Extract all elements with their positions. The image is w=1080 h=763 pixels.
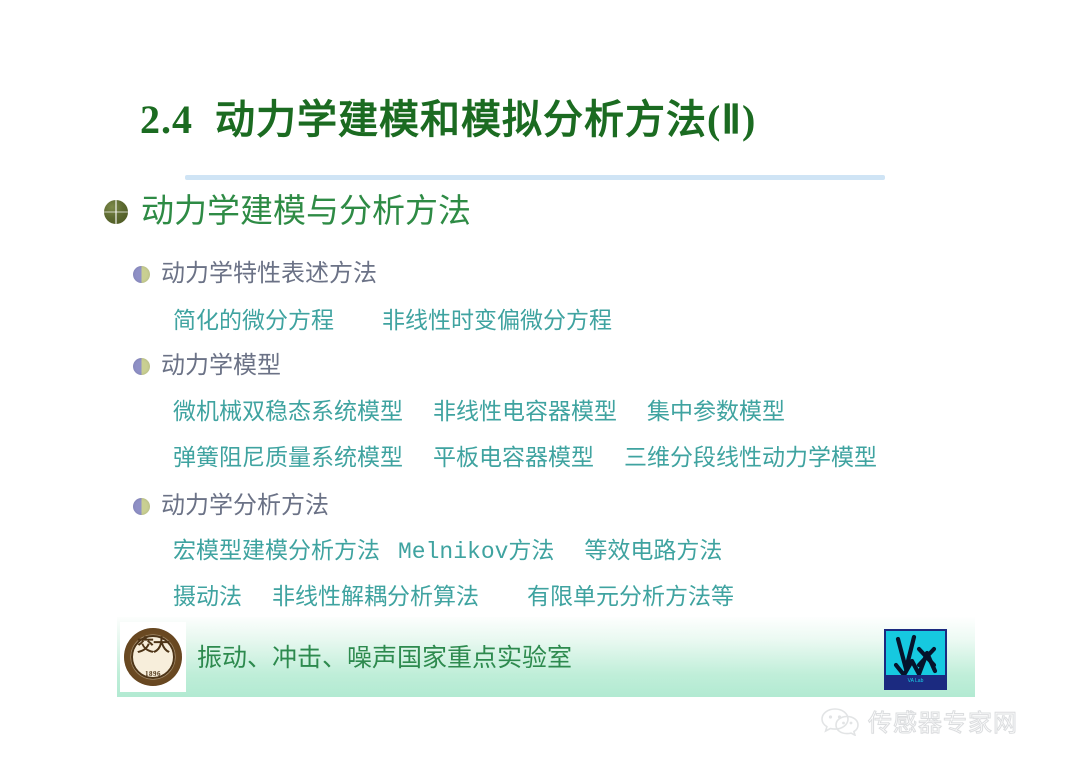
term: 平板电容器模型 — [433, 445, 594, 470]
slide-canvas: 2.4动力学建模和模拟分析方法(Ⅱ) 动力学建模与分析方法 动力学特性表述方法 … — [0, 0, 1080, 763]
term: 非线性解耦分析算法 — [272, 584, 479, 609]
university-seal-icon: 交大 1896 — [124, 628, 182, 686]
footer-lab-name: 振动、冲击、噪声国家重点实验室 — [197, 645, 572, 673]
section-heading-1: 动力学特性表述方法 — [133, 261, 377, 287]
term: 摄动法 — [173, 584, 242, 609]
term: 非线性时变偏微分方程 — [382, 308, 612, 333]
watermark-text: 传感器专家网 — [868, 703, 1018, 738]
term-latin: Melnikov — [398, 539, 508, 565]
section-3-line-1: 宏模型建模分析方法Melnikov方法等效电路方法 — [173, 538, 722, 565]
term: 弹簧阻尼质量系统模型 — [173, 445, 403, 470]
section-heading-3: 动力学分析方法 — [133, 493, 329, 519]
watermark: 传感器专家网 — [820, 703, 1018, 738]
title-text: 动力学建模和模拟分析方法(Ⅱ) — [215, 97, 756, 142]
section-heading-label: 动力学分析方法 — [161, 493, 329, 519]
section-2-line-1: 微机械双稳态系统模型非线性电容器模型集中参数模型 — [173, 399, 785, 424]
term: 简化的微分方程 — [173, 308, 334, 333]
seal-glyph-text: 交大 — [124, 637, 182, 654]
section-1-line-1: 简化的微分方程非线性时变偏微分方程 — [173, 308, 612, 333]
section-2-line-2: 弹簧阻尼质量系统模型平板电容器模型三维分段线性动力学模型 — [173, 445, 877, 470]
level1-label: 动力学建模与分析方法 — [141, 194, 471, 230]
section-3-line-2: 摄动法非线性解耦分析算法有限单元分析方法等 — [173, 584, 734, 609]
title-number: 2.4 — [140, 97, 193, 142]
waveform-logo-icon: VA Lab — [884, 629, 947, 690]
section-heading-2: 动力学模型 — [133, 353, 281, 379]
term: 方法 — [508, 538, 554, 563]
two-tone-sphere-bullet-icon — [133, 358, 150, 375]
term: 微机械双稳态系统模型 — [173, 399, 403, 424]
wechat-icon — [820, 706, 860, 736]
term: 非线性电容器模型 — [433, 399, 617, 424]
level1-bullet-row: 动力学建模与分析方法 — [104, 194, 471, 230]
university-seal-container: 交大 1896 — [120, 622, 186, 692]
term: 宏模型建模分析方法 — [173, 538, 380, 563]
section-heading-label: 动力学模型 — [161, 353, 281, 379]
term: 等效电路方法 — [584, 538, 722, 563]
term: 三维分段线性动力学模型 — [624, 445, 877, 470]
waveform-logo-caption: VA Lab — [886, 675, 945, 688]
title-underline-rule — [185, 175, 885, 180]
two-tone-sphere-bullet-icon — [133, 266, 150, 283]
olive-sphere-bullet-icon — [104, 200, 128, 224]
two-tone-sphere-bullet-icon — [133, 498, 150, 515]
page-title: 2.4动力学建模和模拟分析方法(Ⅱ) — [140, 98, 940, 142]
term: 有限单元分析方法等 — [527, 584, 734, 609]
term: 集中参数模型 — [647, 399, 785, 424]
section-heading-label: 动力学特性表述方法 — [161, 261, 377, 287]
seal-year-text: 1896 — [124, 670, 182, 678]
